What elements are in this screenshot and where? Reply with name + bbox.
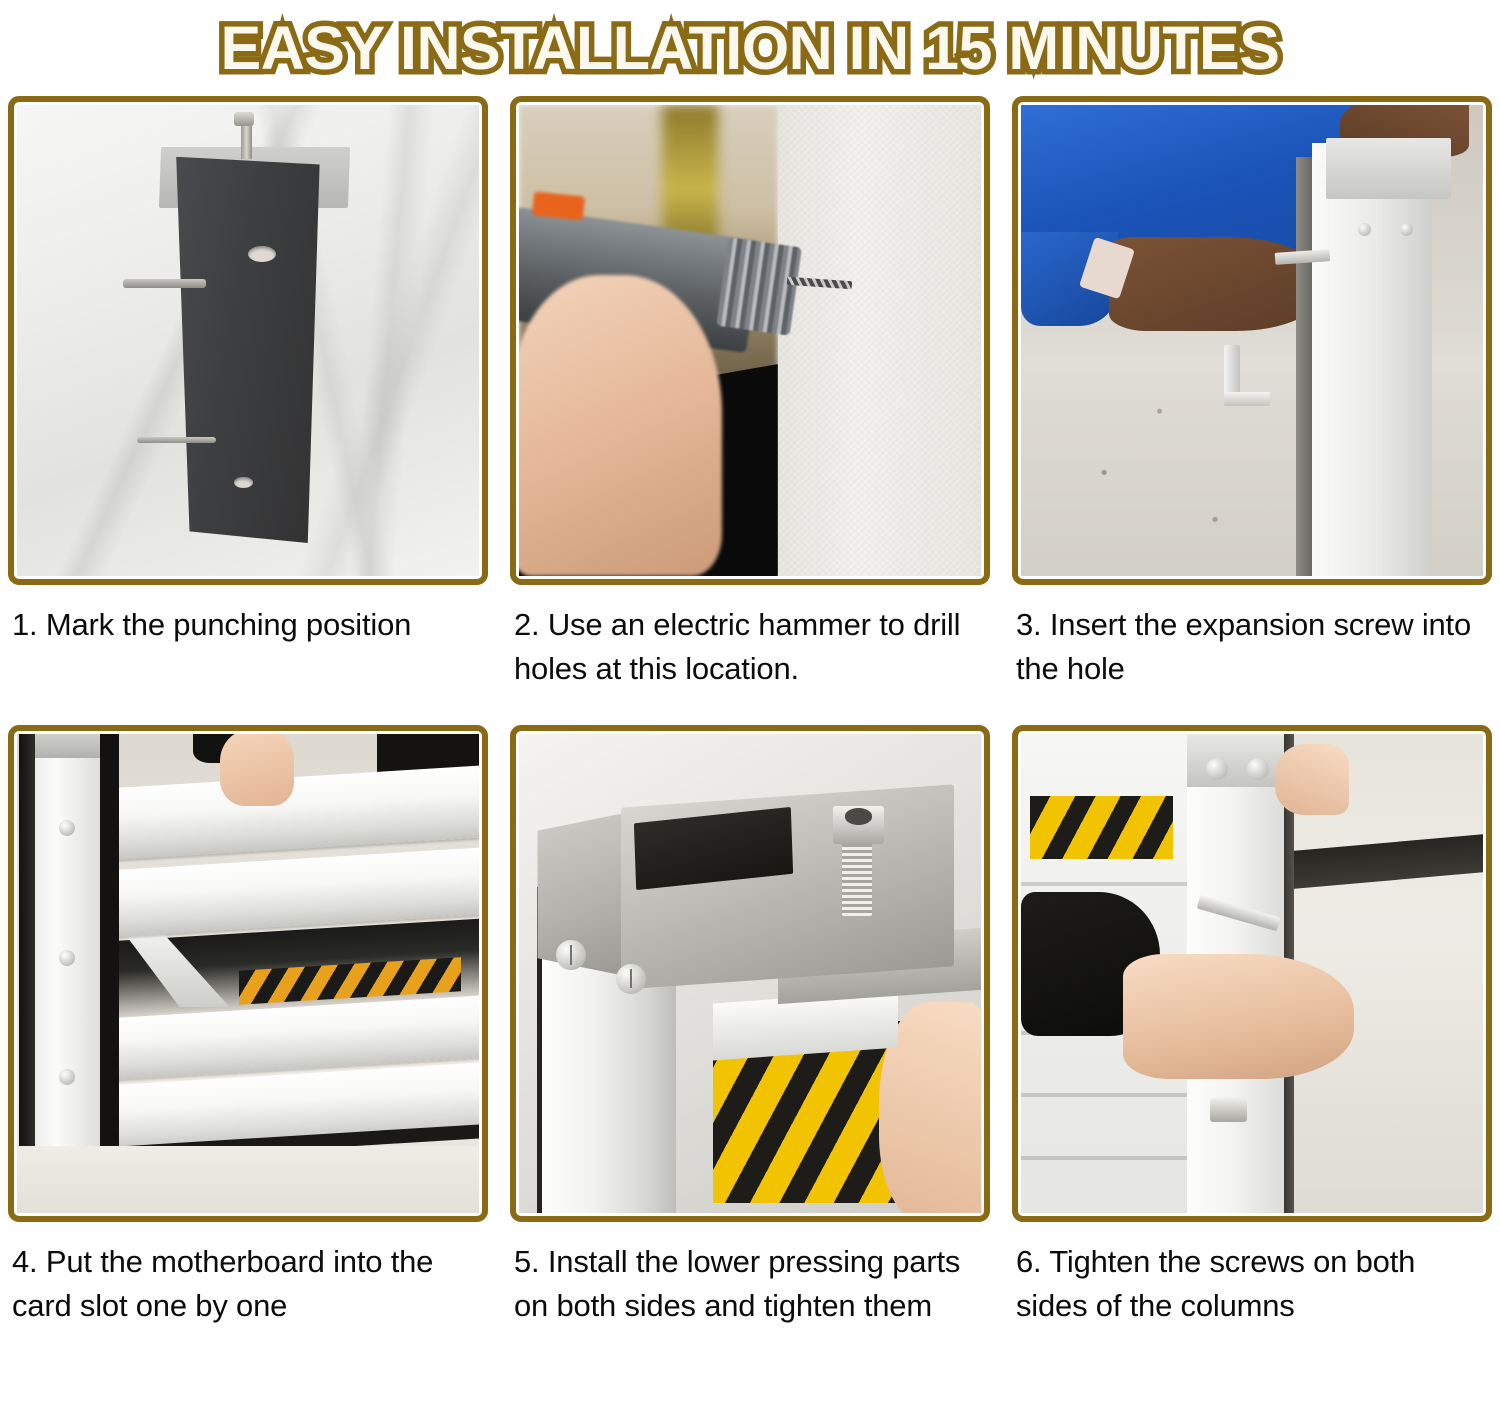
column-screw-right: [1400, 223, 1413, 236]
worker-hand: [1123, 954, 1354, 1079]
step-5-photo-frame: [510, 725, 990, 1222]
step-card-6: 6. Tighten the screws on both sides of t…: [1012, 725, 1492, 1390]
step-3-photo-frame: [1012, 96, 1492, 585]
worker-upper-hand: [1275, 744, 1349, 816]
lower-screw: [1210, 1098, 1247, 1122]
column-top-cap: [1187, 734, 1284, 787]
operator-hand: [519, 275, 722, 576]
allen-key-arm: [1224, 392, 1270, 406]
column-cap-plate: [1326, 138, 1451, 199]
worker-hand: [220, 734, 294, 806]
step-3-caption: 3. Insert the expansion screw into the h…: [1012, 585, 1492, 725]
step-1-photo-frame: [8, 96, 488, 585]
post-screw-1: [59, 820, 75, 836]
thumb-bolt-socket: [845, 808, 873, 824]
white-wall: [778, 105, 981, 576]
bracket-screw-1: [556, 940, 586, 970]
step-4-photo-frame: [8, 725, 488, 1222]
step-1-caption: 1. Mark the punching position: [8, 585, 488, 725]
post-top-cap: [35, 734, 100, 758]
step-card-3: 3. Insert the expansion screw into the h…: [1012, 96, 1492, 725]
step-2-photo: [519, 105, 981, 576]
step-4-caption: 4. Put the motherboard into the card slo…: [8, 1222, 488, 1390]
step-card-5: 5. Install the lower pressing parts on b…: [510, 725, 990, 1390]
step-5-photo: [519, 734, 981, 1213]
white-post: [35, 734, 100, 1156]
top-bolt-head: [234, 112, 254, 126]
step-1-photo: [17, 105, 479, 576]
panel-seam-1: [1021, 882, 1192, 886]
column-screw-1: [1206, 758, 1228, 780]
post-screw-2: [59, 950, 75, 966]
step-card-4: 4. Put the motherboard into the card slo…: [8, 725, 488, 1390]
step-4-photo: [17, 734, 479, 1213]
installation-guide-page: EASY INSTALLATION IN 15 MINUTES 1. Mark …: [0, 0, 1500, 1403]
page-title: EASY INSTALLATION IN 15 MINUTES: [221, 18, 1280, 79]
post-screw-3: [59, 1069, 75, 1085]
expansion-pin-upper: [123, 279, 206, 288]
step-2-photo-frame: [510, 96, 990, 585]
step-2-caption: 2. Use an electric hammer to drill holes…: [510, 585, 990, 725]
panel-seam-3: [1021, 1093, 1192, 1097]
hazard-stripe-tape: [1030, 796, 1173, 858]
step-6-caption: 6. Tighten the screws on both sides of t…: [1012, 1222, 1492, 1390]
step-card-2: 2. Use an electric hammer to drill holes…: [510, 96, 990, 725]
step-5-caption: 5. Install the lower pressing parts on b…: [510, 1222, 990, 1390]
white-column: [1312, 143, 1432, 576]
step-card-1: 1. Mark the punching position: [8, 96, 488, 725]
column-screw-left: [1358, 223, 1371, 236]
header-banner: EASY INSTALLATION IN 15 MINUTES: [0, 0, 1500, 96]
bracket-screw-2: [616, 964, 646, 994]
floor-strip: [17, 1146, 479, 1213]
steps-row-1: 1. Mark the punching position 2. Use an …: [0, 96, 1500, 725]
step-3-photo: [1021, 105, 1483, 576]
panel-seam-4: [1021, 1156, 1192, 1160]
thumb-bolt-shaft: [842, 835, 872, 916]
drill-chuck: [716, 237, 802, 336]
step-6-photo: [1021, 734, 1483, 1213]
steps-row-2: 4. Put the motherboard into the card slo…: [0, 725, 1500, 1390]
expansion-pin-lower: [137, 437, 216, 443]
step-6-photo-frame: [1012, 725, 1492, 1222]
